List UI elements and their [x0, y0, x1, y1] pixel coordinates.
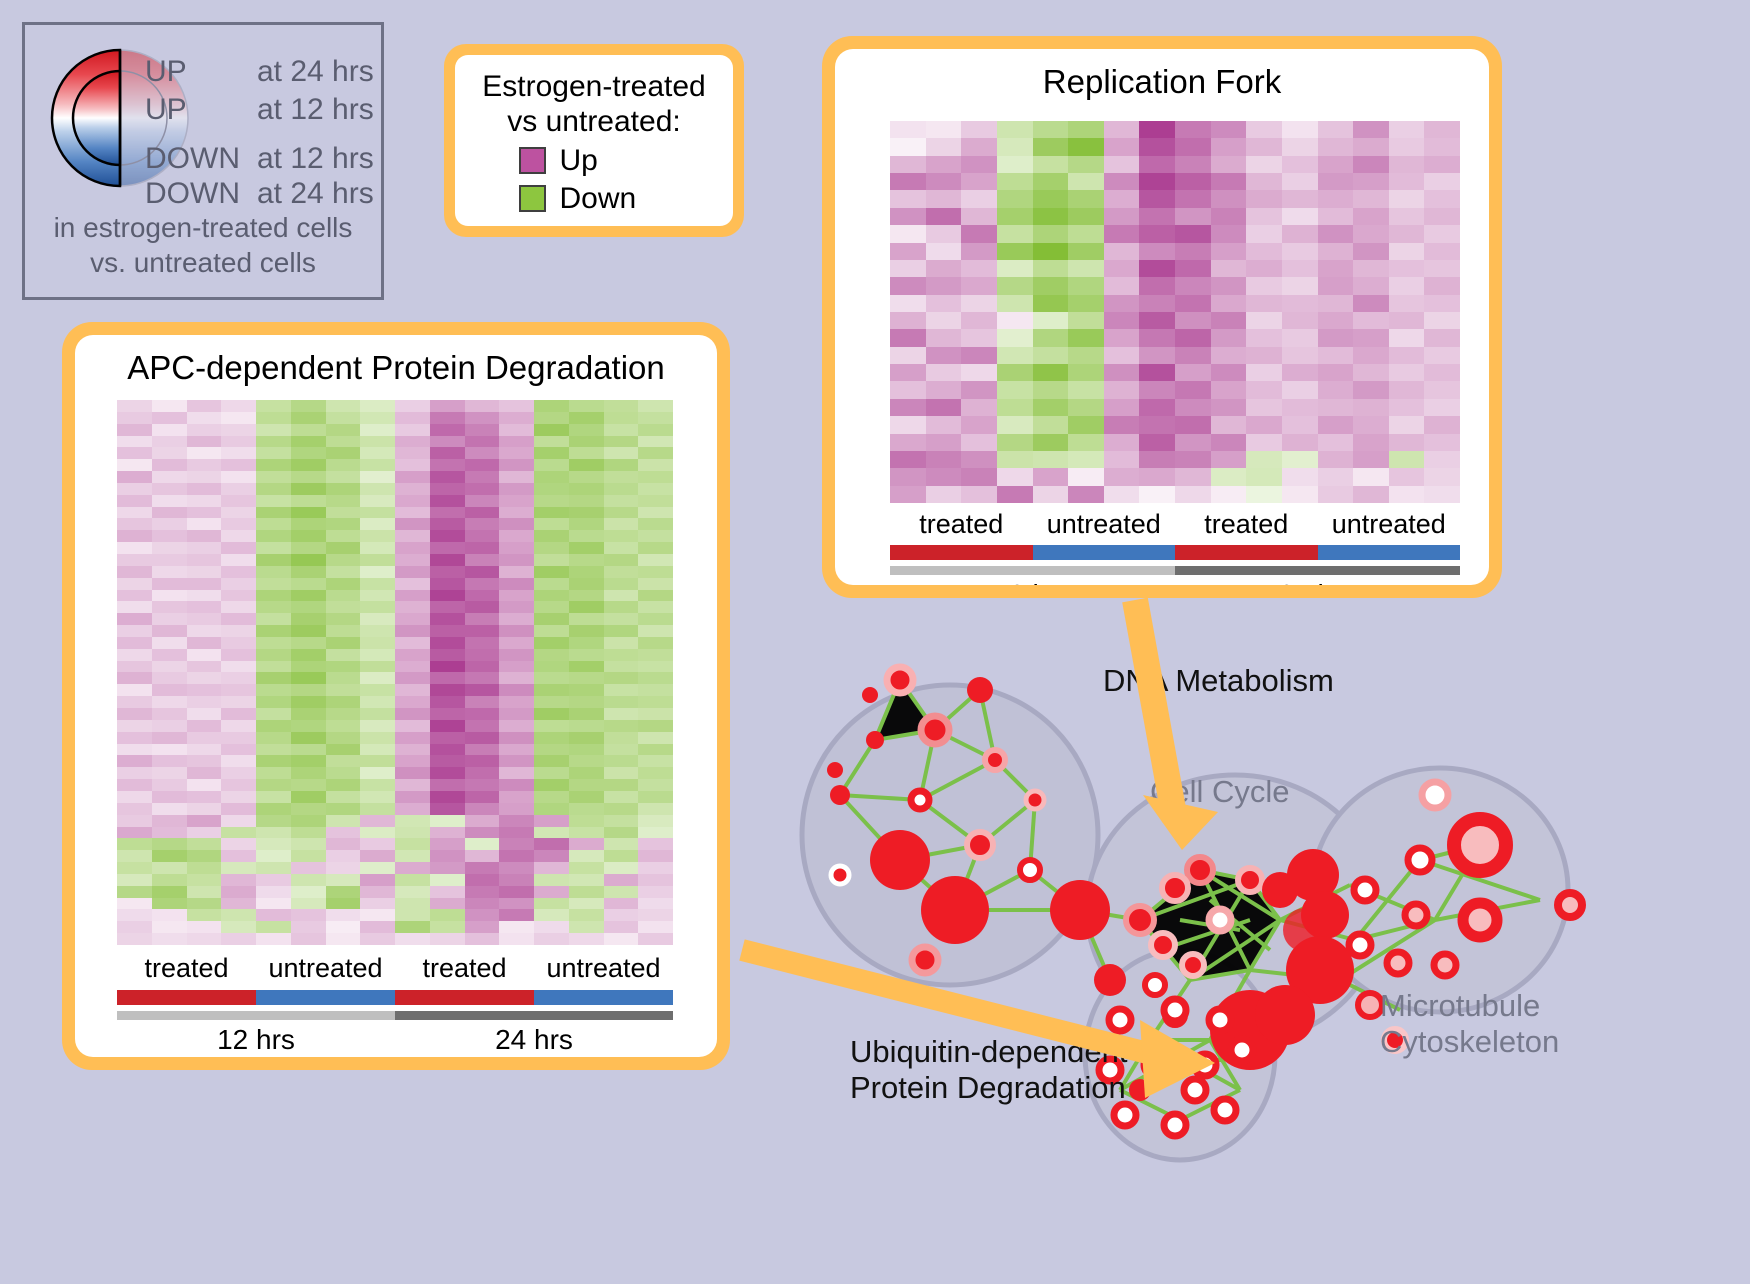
condition-color-bar — [395, 990, 534, 1005]
condition-label: treated — [395, 953, 534, 984]
network-diagram: DNA Metabolism Cell Cycle Microtubule Cy… — [780, 620, 1750, 1279]
condition-label: untreated — [256, 953, 395, 984]
apc-condition-labels: treateduntreatedtreateduntreated — [117, 953, 673, 984]
apc-time-labels: 12 hrs24 hrs — [117, 1024, 673, 1056]
network-label-dna-metabolism: DNA Metabolism — [1103, 663, 1334, 699]
condition-color-bar — [1033, 545, 1176, 560]
colorwheel-footer-line2: vs. untreated cells — [25, 245, 381, 280]
colorwheel-row-1-time: at 12 hrs — [257, 93, 374, 127]
time-label: 24 hrs — [1175, 579, 1460, 585]
condition-color-bar — [1318, 545, 1461, 560]
colorwheel-row-0-label: UP — [145, 55, 257, 89]
condition-color-bar — [890, 545, 1033, 560]
apc-degradation-title: APC-dependent Protein Degradation — [75, 335, 717, 387]
apc-degradation-card: APC-dependent Protein Degradation treate… — [62, 322, 730, 1070]
legend-row-down: Down — [465, 182, 723, 216]
network-label-cell-cycle: Cell Cycle — [1150, 774, 1290, 810]
replication-fork-time-labels: 12 hrs24 hrs — [890, 579, 1460, 585]
colorwheel-row-0: UP at 24 hrs — [145, 55, 374, 89]
time-label: 12 hrs — [117, 1024, 395, 1056]
time-color-bar — [395, 1011, 673, 1020]
apc-degradation-inner: APC-dependent Protein Degradation treate… — [75, 335, 717, 1057]
colorwheel-footer-line1: in estrogen-treated cells — [25, 210, 381, 245]
replication-fork-title: Replication Fork — [835, 49, 1489, 101]
time-label: 12 hrs — [890, 579, 1175, 585]
replication-fork-card: Replication Fork treateduntreatedtreated… — [822, 36, 1502, 598]
condition-color-bar — [256, 990, 395, 1005]
network-label-microtubule: Microtubule Cytoskeleton — [1380, 988, 1559, 1059]
condition-label: treated — [1175, 509, 1318, 540]
condition-label: untreated — [534, 953, 673, 984]
apc-condition-bar — [117, 990, 673, 1005]
condition-label: untreated — [1033, 509, 1176, 540]
time-label: 24 hrs — [395, 1024, 673, 1056]
condition-color-bar — [117, 990, 256, 1005]
time-color-bar — [1175, 566, 1460, 575]
colorwheel-row-0-time: at 24 hrs — [257, 55, 374, 89]
colorwheel-row-2: DOWN at 12 hrs — [145, 142, 374, 176]
legend-label-up: Up — [560, 144, 670, 178]
updown-legend-title: Estrogen-treated vs untreated: — [465, 69, 723, 140]
colorwheel-row-1: UP at 12 hrs — [145, 93, 374, 127]
updown-legend-card: Estrogen-treated vs untreated: Up Down — [444, 44, 744, 237]
colorwheel-row-3: DOWN at 24 hrs — [145, 177, 374, 211]
updown-title-line1: Estrogen-treated — [465, 69, 723, 104]
condition-label: treated — [117, 953, 256, 984]
network-svg — [780, 620, 1750, 1279]
colorwheel-legend-box: UP at 24 hrs UP at 12 hrs DOWN at 12 hrs… — [22, 22, 384, 300]
replication-fork-condition-labels: treateduntreatedtreateduntreated — [890, 509, 1460, 540]
colorwheel-row-2-time: at 12 hrs — [257, 142, 374, 176]
colorwheel-row-1-label: UP — [145, 93, 257, 127]
apc-time-bar — [117, 1011, 673, 1020]
colorwheel-row-2-label: DOWN — [145, 142, 257, 176]
updown-title-line2: vs untreated: — [465, 104, 723, 139]
colorwheel-footer: in estrogen-treated cells vs. untreated … — [25, 210, 381, 280]
up-swatch-icon — [519, 147, 546, 174]
condition-color-bar — [534, 990, 673, 1005]
updown-legend-inner: Estrogen-treated vs untreated: Up Down — [455, 55, 733, 226]
time-color-bar — [890, 566, 1175, 575]
network-label-ubiquitin: Ubiquitin-dependent Protein Degradation — [850, 1034, 1128, 1105]
apc-degradation-heatmap — [117, 400, 673, 945]
colorwheel-row-3-label: DOWN — [145, 177, 257, 211]
replication-fork-condition-bar — [890, 545, 1460, 560]
condition-color-bar — [1175, 545, 1318, 560]
replication-fork-inner: Replication Fork treateduntreatedtreated… — [835, 49, 1489, 585]
legend-row-up: Up — [465, 144, 723, 178]
condition-label: untreated — [1318, 509, 1461, 540]
condition-label: treated — [890, 509, 1033, 540]
colorwheel-row-3-time: at 24 hrs — [257, 177, 374, 211]
down-swatch-icon — [519, 185, 546, 212]
figure-root: UP at 24 hrs UP at 12 hrs DOWN at 12 hrs… — [0, 0, 1750, 1279]
legend-label-down: Down — [560, 182, 670, 216]
replication-fork-heatmap — [890, 121, 1460, 503]
replication-fork-time-bar — [890, 566, 1460, 575]
time-color-bar — [117, 1011, 395, 1020]
